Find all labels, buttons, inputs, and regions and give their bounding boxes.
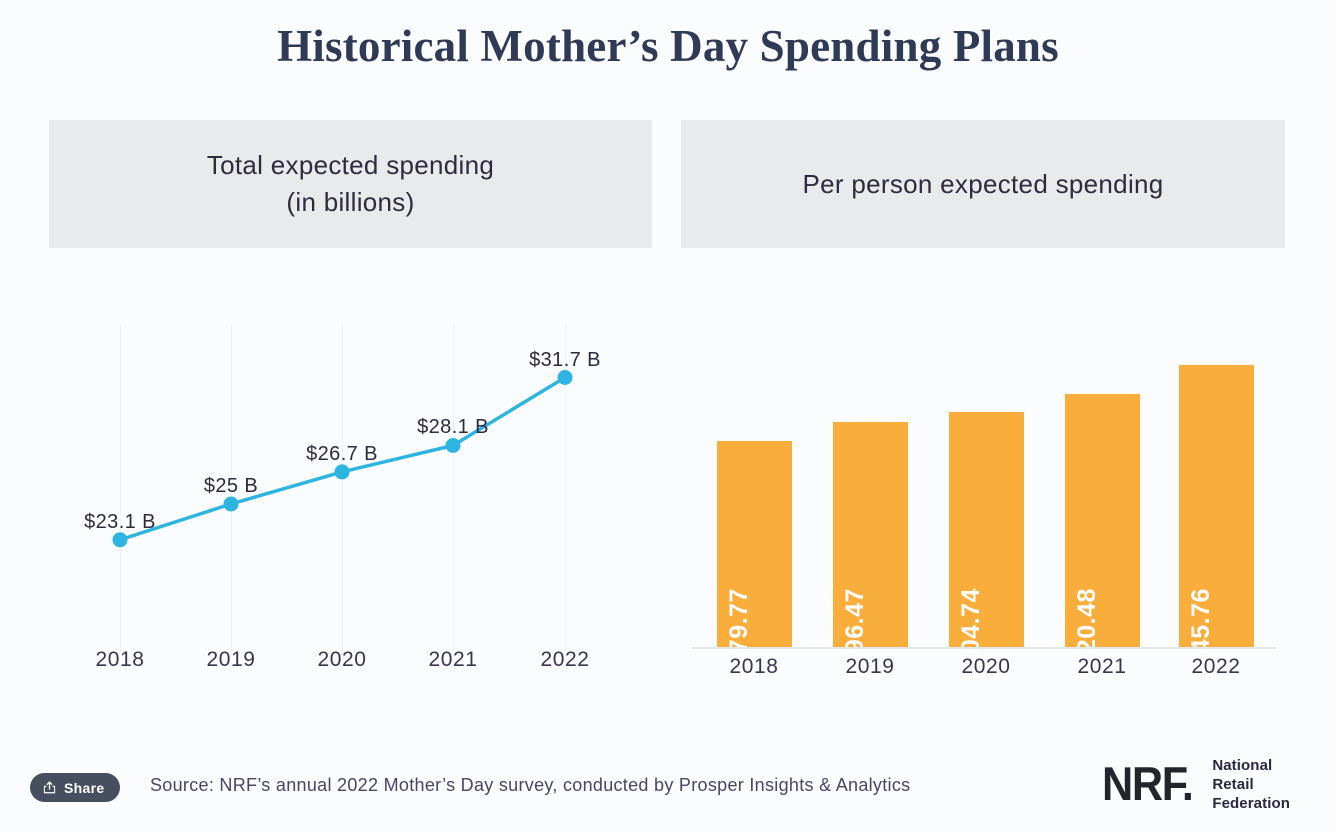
bar-x-tick-2021: 2021 <box>1077 655 1126 679</box>
bar-chart-baseline <box>692 647 1276 649</box>
line-x-tick-2020: 2020 <box>317 648 366 672</box>
line-chart: $23.1 B$25 B$26.7 B$28.1 B$31.7 B 201820… <box>0 300 660 690</box>
line-x-tick-2019: 2019 <box>206 648 255 672</box>
nrf-logo: NRF. National Retail Federation <box>1102 756 1290 814</box>
bar-x-tick-2019: 2019 <box>845 655 894 679</box>
share-button-label: Share <box>64 780 104 796</box>
panel-header-left-line1: Total expected spending <box>207 147 494 184</box>
nrf-logo-mark: NRF. <box>1102 762 1193 807</box>
nrf-wordmark-line2: Retail <box>1212 775 1290 794</box>
line-marker-2021[interactable] <box>446 438 461 453</box>
line-marker-2020[interactable] <box>335 464 350 479</box>
panel-header-total-spending: Total expected spending (in billions) <box>49 120 652 248</box>
line-x-tick-2018: 2018 <box>95 648 144 672</box>
page-title: Historical Mother’s Day Spending Plans <box>0 20 1336 72</box>
line-marker-2018[interactable] <box>113 532 128 547</box>
line-marker-2022[interactable] <box>558 370 573 385</box>
share-button[interactable]: Share <box>30 773 120 802</box>
infographic-root: Historical Mother’s Day Spending Plans T… <box>0 0 1336 832</box>
bar-2019[interactable]: $196.47 <box>833 422 908 649</box>
line-marker-2019[interactable] <box>224 497 239 512</box>
nrf-wordmark-line1: National <box>1212 756 1290 775</box>
line-data-label-2021: $28.1 B <box>417 416 489 439</box>
line-data-label-2020: $26.7 B <box>306 443 378 466</box>
bar-2022[interactable]: $245.76 <box>1179 365 1254 649</box>
line-data-label-2022: $31.7 B <box>529 349 601 372</box>
line-x-tick-2022: 2022 <box>540 648 589 672</box>
bar-x-tick-2020: 2020 <box>961 655 1010 679</box>
bar-2018[interactable]: $179.77 <box>717 441 792 649</box>
nrf-logo-wordmark: National Retail Federation <box>1212 756 1290 814</box>
line-x-tick-2021: 2021 <box>428 648 477 672</box>
panel-header-left-line2: (in billions) <box>286 184 414 221</box>
panel-header-per-person-spending: Per person expected spending <box>681 120 1285 248</box>
bar-chart: $179.77$196.47$204.74$220.48$245.76 2018… <box>676 300 1336 690</box>
nrf-wordmark-line3: Federation <box>1212 794 1290 813</box>
share-icon <box>42 780 57 795</box>
source-citation: Source: NRF’s annual 2022 Mother’s Day s… <box>150 775 910 796</box>
bar-2021[interactable]: $220.48 <box>1065 394 1140 649</box>
line-data-label-2018: $23.1 B <box>84 511 156 534</box>
bar-x-tick-2022: 2022 <box>1191 655 1240 679</box>
panel-header-right-line1: Per person expected spending <box>802 166 1163 203</box>
line-data-label-2019: $25 B <box>204 475 258 498</box>
bar-x-tick-2018: 2018 <box>729 655 778 679</box>
bar-2020[interactable]: $204.74 <box>949 412 1024 649</box>
